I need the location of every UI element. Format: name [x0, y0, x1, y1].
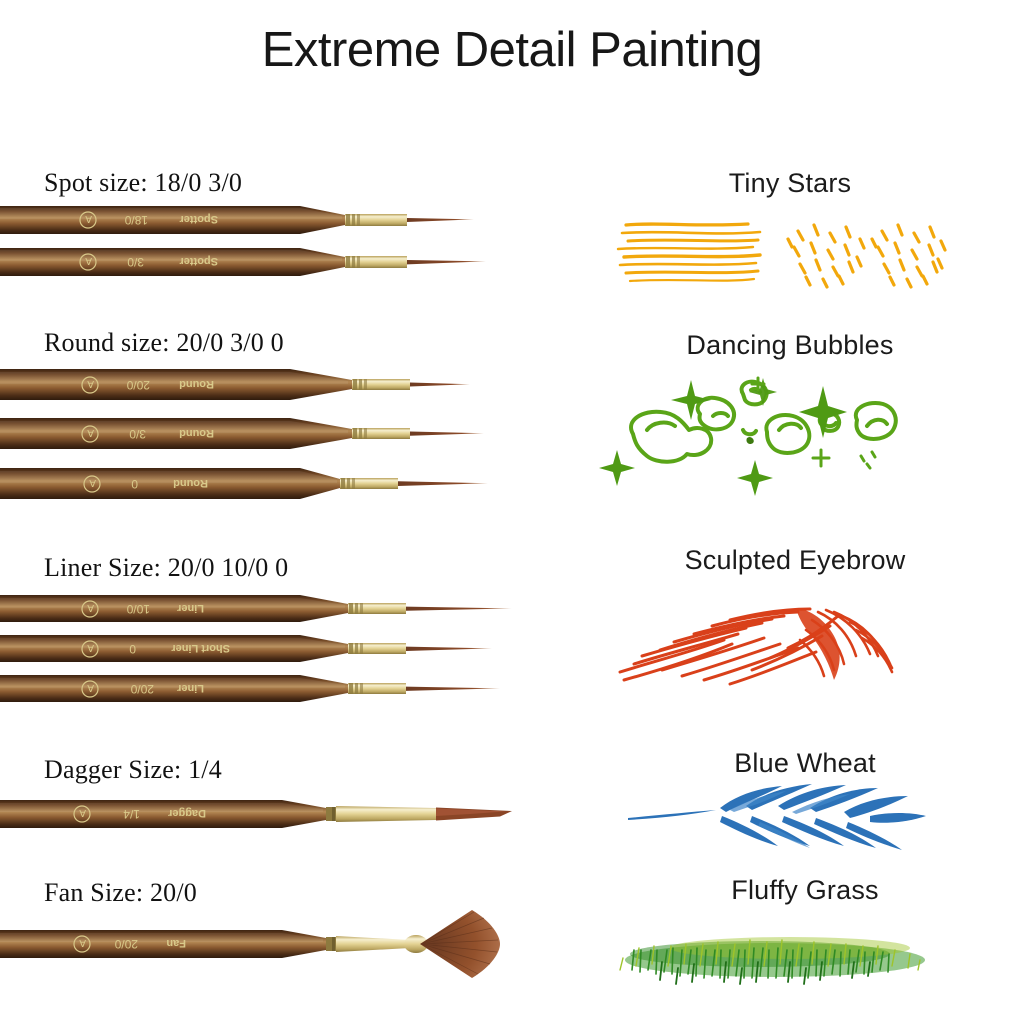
handle-print-name: Short Liner: [171, 642, 230, 654]
handle-print-size: 3/0: [129, 427, 146, 441]
brush-round-0[interactable]: Round 0 A: [0, 462, 510, 508]
swatch-label-dancing-bubbles: Dancing Bubbles: [640, 330, 940, 361]
brush-round-20-0[interactable]: Round 20/0 A: [0, 363, 500, 409]
handle-print-size: 0: [129, 642, 136, 656]
swatch-fluffy-grass: [600, 908, 950, 998]
spec-label-spot: Spot size: 18/0 3/0: [44, 168, 242, 198]
handle-print-size: 20/0: [126, 378, 150, 392]
handle-logo: A: [89, 477, 96, 488]
brush-spotter-18-0[interactable]: Spotter 18/0 A: [0, 198, 500, 244]
handle-logo: A: [87, 682, 94, 693]
handle-print-name: Spotter: [179, 255, 218, 267]
handle-print-name: Fan: [166, 937, 186, 949]
handle-logo: A: [85, 213, 92, 224]
handle-logo: A: [87, 378, 94, 389]
handle-logo: A: [79, 937, 86, 948]
handle-print-name: Round: [173, 477, 208, 489]
handle-print-name: Liner: [176, 602, 204, 614]
swatch-tiny-stars: [608, 215, 948, 290]
handle-logo: A: [87, 602, 94, 613]
brush-spotter-3-0[interactable]: Spotter 3/0 A: [0, 240, 510, 286]
handle-print-size: 20/0: [114, 937, 138, 951]
brush-dagger-1-4[interactable]: Dagger 1/4 A: [0, 790, 540, 840]
poster-canvas: Extreme Detail Painting Spot size: 18/0 …: [0, 0, 1024, 1024]
spec-label-dagger: Dagger Size: 1/4: [44, 755, 222, 785]
brush-fan-20-0[interactable]: Fan 20/0 A: [0, 900, 540, 1000]
swatch-blue-wheat: [620, 782, 940, 870]
handle-print-size: 1/4: [123, 807, 140, 821]
handle-print-name: Round: [179, 378, 214, 390]
brush-round-3-0[interactable]: Round 3/0 A: [0, 412, 510, 458]
handle-print-size: 10/0: [126, 602, 150, 616]
handle-print-name: Dagger: [167, 807, 206, 819]
handle-logo: A: [87, 427, 94, 438]
handle-print-name: Liner: [176, 682, 204, 694]
swatch-label-fluffy-grass: Fluffy Grass: [680, 875, 930, 906]
brush-short-liner-0[interactable]: Short Liner 0 A: [0, 628, 520, 672]
brush-liner-20-0[interactable]: Liner 20/0 A: [0, 668, 520, 712]
swatch-sculpted-eyebrow: [612, 592, 942, 697]
handle-print-size: 18/0: [124, 213, 148, 227]
handle-print-size: 0: [131, 477, 138, 491]
handle-logo: A: [79, 807, 86, 818]
handle-logo: A: [85, 255, 92, 266]
swatch-dancing-bubbles: [595, 372, 945, 492]
handle-print-size: 3/0: [127, 255, 144, 269]
spec-label-liner: Liner Size: 20/0 10/0 0: [44, 553, 288, 583]
handle-print-size: 20/0: [130, 682, 154, 696]
handle-print-name: Round: [179, 427, 214, 439]
page-title: Extreme Detail Painting: [0, 22, 1024, 78]
spec-label-round: Round size: 20/0 3/0 0: [44, 328, 284, 358]
swatch-label-sculpted-eyebrow: Sculpted Eyebrow: [640, 545, 950, 576]
swatch-label-blue-wheat: Blue Wheat: [680, 748, 930, 779]
swatch-label-tiny-stars: Tiny Stars: [650, 168, 930, 199]
handle-print-name: Spotter: [179, 213, 218, 225]
brush-liner-10-0[interactable]: Liner 10/0 A: [0, 588, 530, 632]
handle-logo: A: [87, 642, 94, 653]
